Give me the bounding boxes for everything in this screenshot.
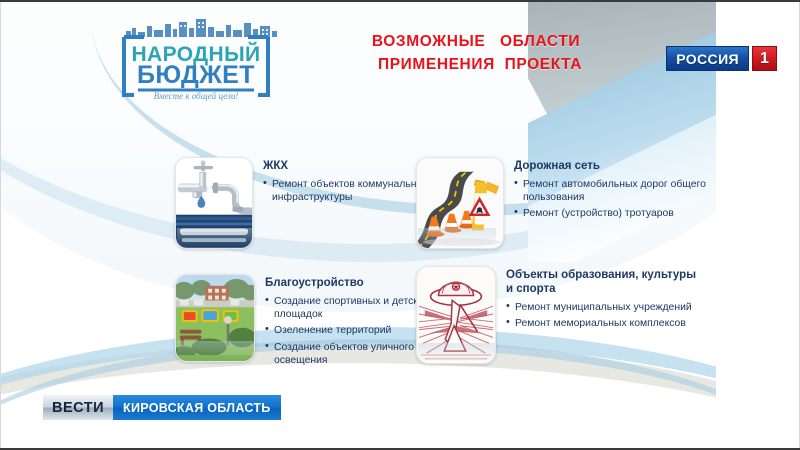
- lower-third-region: КИРОВСКАЯ ОБЛАСТЬ: [113, 395, 281, 420]
- faucet-pipes-icon: [175, 157, 253, 249]
- lower-third-program: ВЕСТИ: [43, 395, 113, 420]
- channel-logo-number: 1: [752, 46, 777, 71]
- list-item: Ремонт (устройство) тротуаров: [514, 207, 714, 220]
- card-road-network: Дорожная сеть Ремонт автомобильных дорог…: [416, 157, 714, 249]
- list-item: Ремонт автомобильных дорог общего пользо…: [514, 178, 714, 204]
- card-road-network-bullets: Ремонт автомобильных дорог общего пользо…: [514, 178, 714, 221]
- presentation-slide: НАРОДНЫЙ БЮДЖЕТ Вместе к общей цели! ВОЗ…: [1, 2, 716, 439]
- card-education-culture-sport-bullets: Ремонт муниципальных учреждений Ремонт м…: [506, 301, 706, 330]
- content-cards-grid: ЖКХ Ремонт объектов коммунальной инфраст…: [1, 2, 716, 439]
- letterbox-top-edge: [0, 0, 800, 2]
- card-education-culture-sport-heading: Объекты образования, культуры и спорта: [506, 268, 706, 296]
- war-memorial-icon: [416, 266, 496, 364]
- card-education-culture-sport: Объекты образования, культуры и спорта Р…: [416, 266, 706, 364]
- channel-logo: РОССИЯ 1: [666, 46, 777, 71]
- road-cones-icon: [416, 157, 504, 249]
- list-item: Ремонт мемориальных комплексов: [506, 317, 706, 330]
- lower-third-banner: ВЕСТИ КИРОВСКАЯ ОБЛАСТЬ: [43, 395, 281, 420]
- channel-logo-name: РОССИЯ: [666, 46, 749, 71]
- playground-park-icon: [175, 274, 255, 362]
- frame-left-edge: [0, 0, 1, 450]
- list-item: Ремонт муниципальных учреждений: [506, 301, 706, 314]
- card-education-culture-sport-text: Объекты образования, культуры и спорта Р…: [496, 266, 706, 364]
- card-road-network-heading: Дорожная сеть: [514, 159, 714, 173]
- broadcast-frame: НАРОДНЫЙ БЮДЖЕТ Вместе к общей цели! ВОЗ…: [1, 2, 799, 448]
- card-road-network-text: Дорожная сеть Ремонт автомобильных дорог…: [504, 157, 714, 249]
